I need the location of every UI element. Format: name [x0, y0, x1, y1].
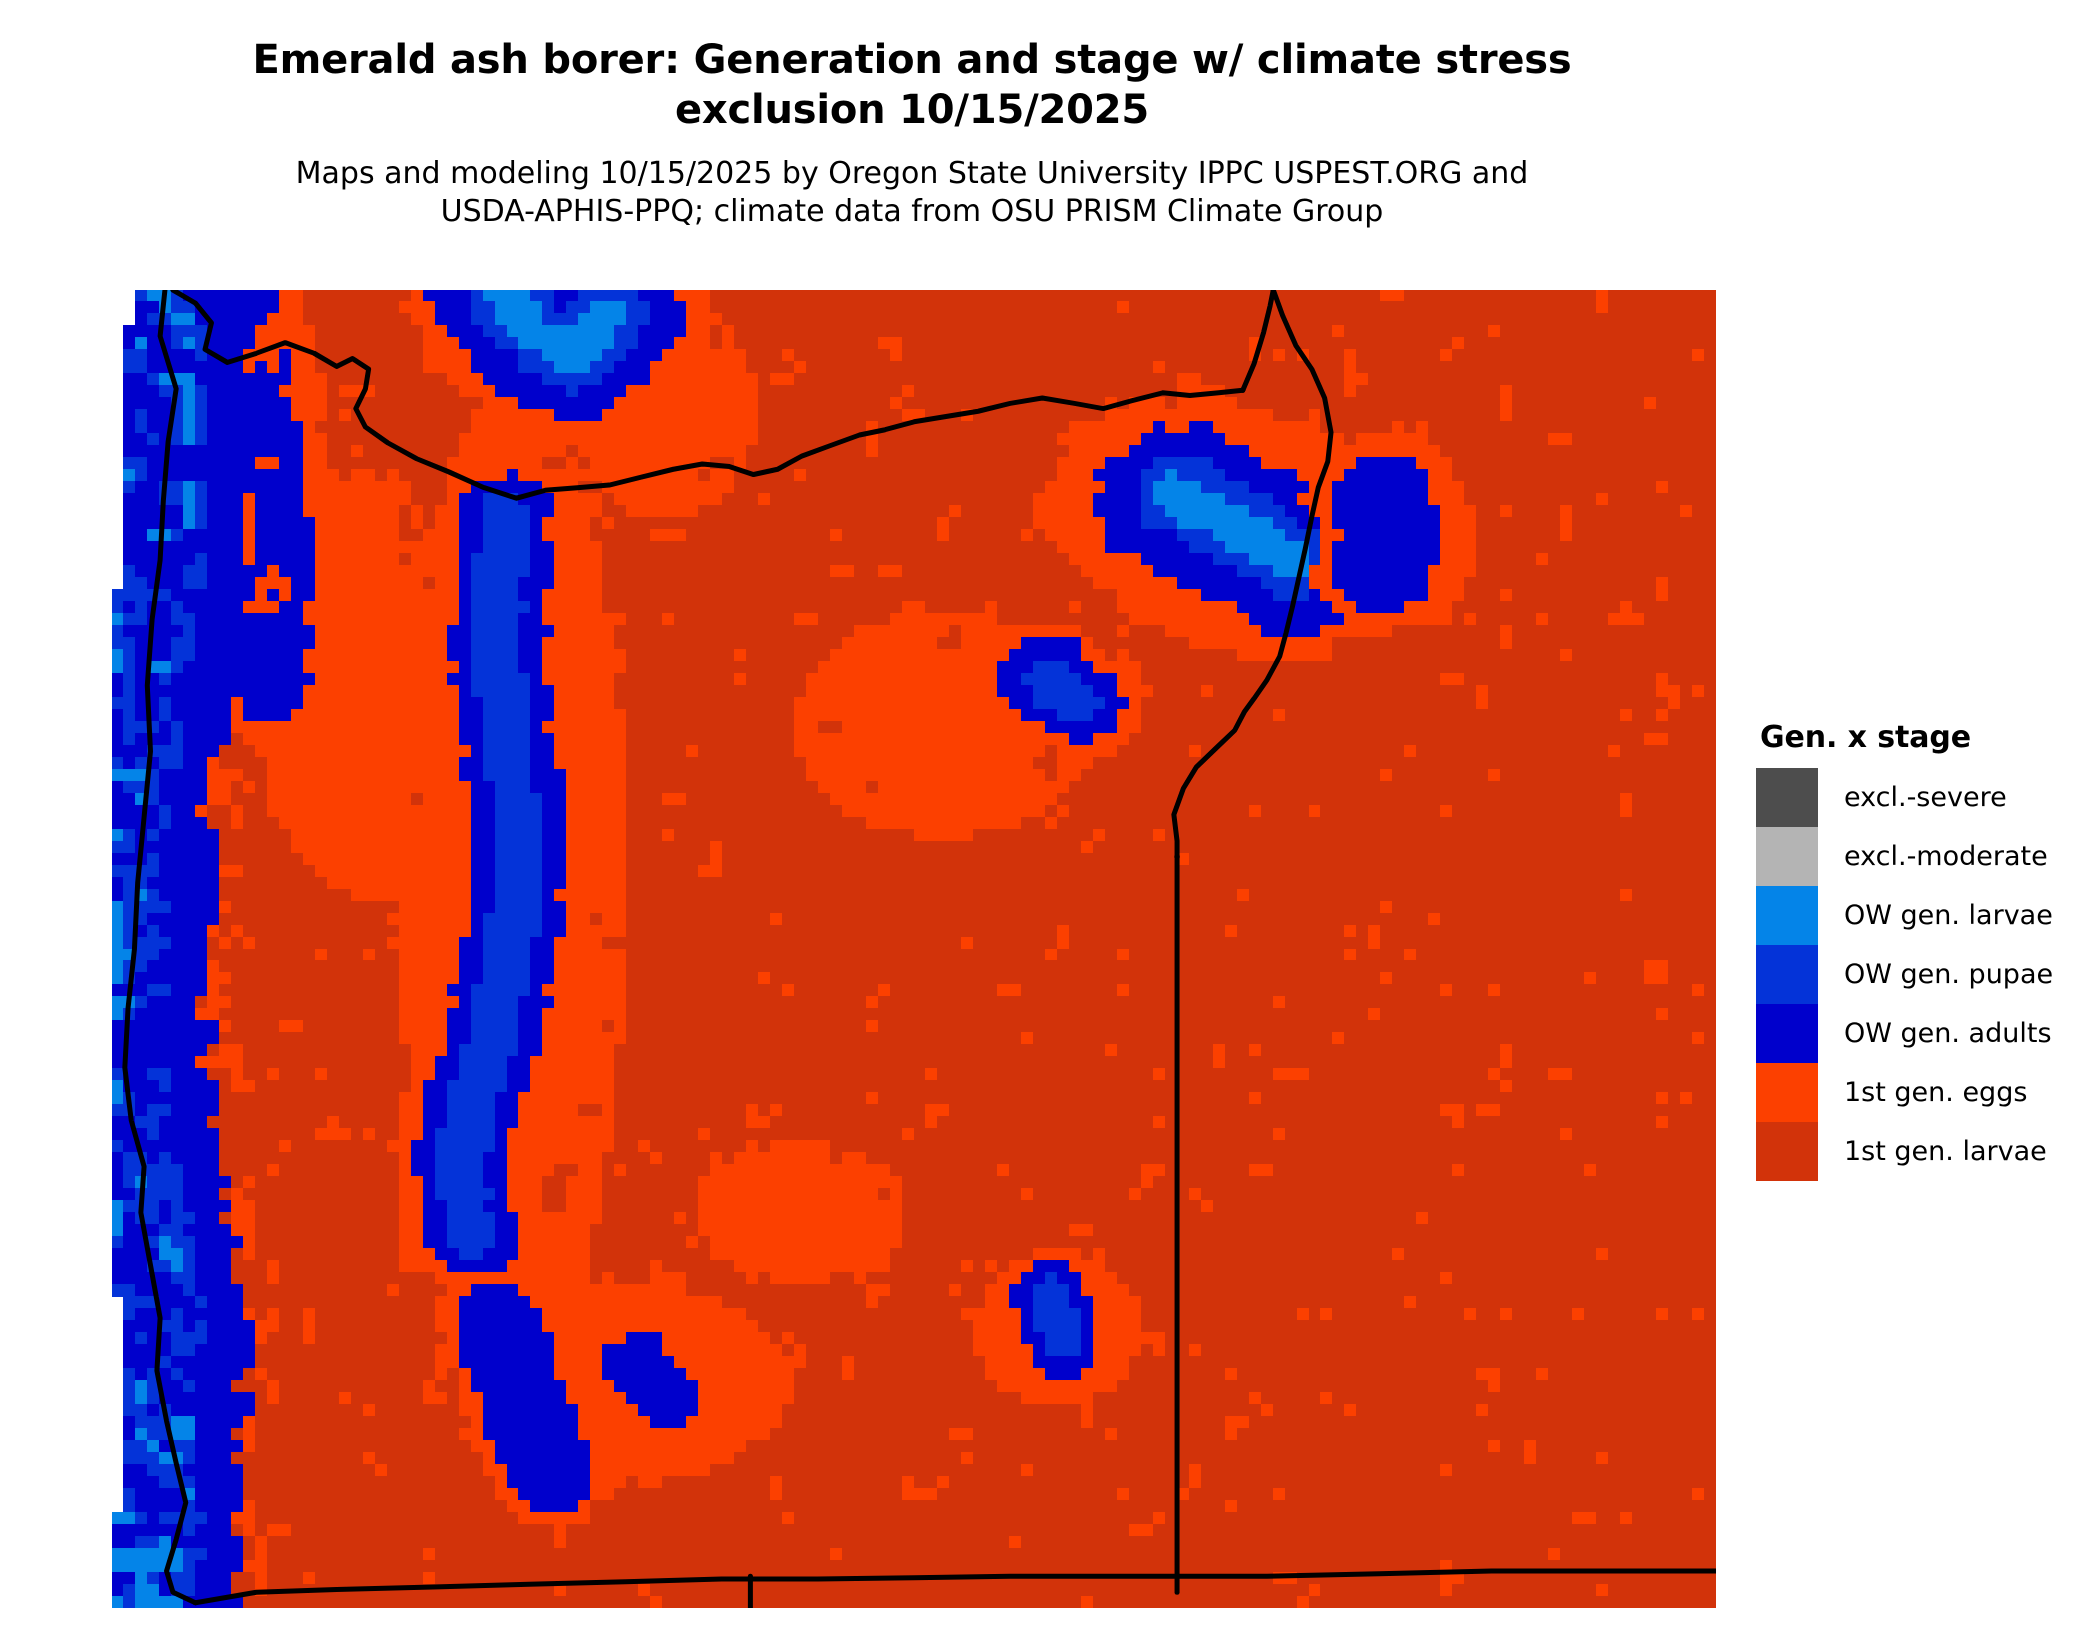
legend-label: 1st gen. eggs	[1844, 1079, 2027, 1106]
generation-stage-raster-map	[112, 290, 1716, 1608]
legend-label: OW gen. larvae	[1844, 902, 2053, 929]
legend-item: excl.-severe	[1756, 768, 2086, 827]
legend-label: 1st gen. larvae	[1844, 1138, 2047, 1165]
legend-items: excl.-severeexcl.-moderateOW gen. larvae…	[1756, 768, 2086, 1181]
legend-item: OW gen. adults	[1756, 1004, 2086, 1063]
map-figure: Emerald ash borer: Generation and stage …	[0, 0, 2100, 1645]
legend: Gen. x stage excl.-severeexcl.-moderateO…	[1756, 720, 2086, 1181]
legend-item: OW gen. larvae	[1756, 886, 2086, 945]
legend-item: excl.-moderate	[1756, 827, 2086, 886]
legend-label: excl.-moderate	[1844, 843, 2048, 870]
legend-swatch	[1756, 827, 1818, 886]
title-block: Emerald ash borer: Generation and stage …	[112, 36, 1712, 231]
page-subtitle: Maps and modeling 10/15/2025 by Oregon S…	[112, 155, 1712, 231]
legend-swatch	[1756, 1122, 1818, 1181]
legend-label: OW gen. pupae	[1844, 961, 2053, 988]
legend-item: OW gen. pupae	[1756, 945, 2086, 1004]
legend-swatch	[1756, 945, 1818, 1004]
legend-label: OW gen. adults	[1844, 1020, 2052, 1047]
map-panel	[112, 290, 1716, 1608]
legend-swatch	[1756, 1063, 1818, 1122]
legend-swatch	[1756, 886, 1818, 945]
page-title: Emerald ash borer: Generation and stage …	[112, 36, 1712, 135]
legend-swatch	[1756, 768, 1818, 827]
legend-item: 1st gen. larvae	[1756, 1122, 2086, 1181]
legend-swatch	[1756, 1004, 1818, 1063]
legend-label: excl.-severe	[1844, 784, 2007, 811]
legend-title: Gen. x stage	[1760, 720, 2086, 755]
legend-item: 1st gen. eggs	[1756, 1063, 2086, 1122]
